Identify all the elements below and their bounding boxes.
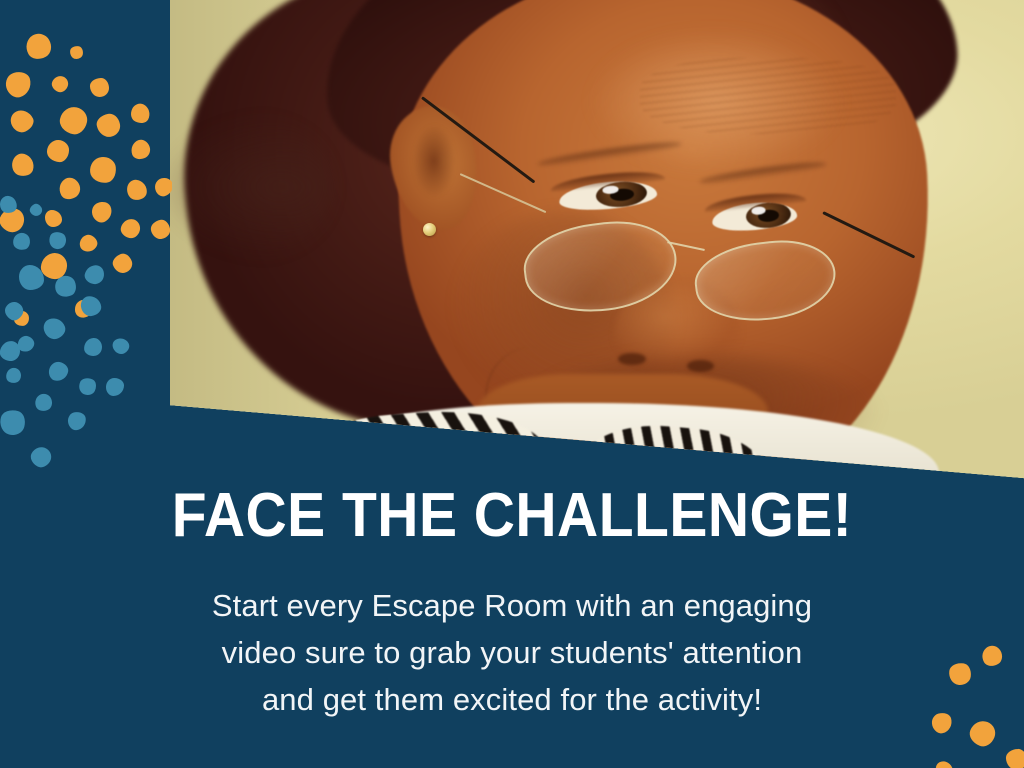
confetti-dot bbox=[76, 375, 98, 397]
confetti-dot bbox=[77, 232, 100, 255]
pearl-earring-icon bbox=[423, 223, 436, 236]
confetti-dot bbox=[45, 210, 62, 227]
confetti-dot bbox=[50, 74, 71, 95]
confetti-dot bbox=[5, 367, 23, 385]
slide-canvas: FACE THE CHALLENGE! Start every Escape R… bbox=[0, 0, 1024, 768]
confetti-dot bbox=[95, 112, 122, 139]
confetti-dot bbox=[27, 443, 54, 470]
ear-inner-shadow bbox=[413, 125, 456, 197]
confetti-dot bbox=[149, 218, 171, 240]
confetti-dot bbox=[83, 337, 102, 356]
text-block: FACE THE CHALLENGE! Start every Escape R… bbox=[0, 472, 1024, 723]
confetti-dot bbox=[41, 315, 67, 341]
confetti-dot bbox=[128, 137, 152, 161]
confetti-dot bbox=[0, 407, 28, 438]
body-copy-line: and get them excited for the activity! bbox=[150, 676, 874, 723]
confetti-dot bbox=[21, 29, 55, 63]
confetti-dot bbox=[7, 106, 36, 135]
confetti-dot bbox=[46, 229, 68, 251]
confetti-dot bbox=[83, 263, 106, 286]
confetti-dot bbox=[90, 78, 110, 98]
confetti-dot bbox=[67, 411, 87, 431]
nostril-left bbox=[618, 353, 645, 365]
forehead-wrinkles bbox=[640, 58, 896, 135]
confetti-dot bbox=[110, 251, 134, 275]
confetti-dot bbox=[69, 45, 83, 59]
confetti-dot bbox=[933, 758, 954, 768]
confetti-dot bbox=[11, 231, 32, 252]
confetti-dot bbox=[119, 217, 142, 240]
confetti-dot bbox=[57, 104, 89, 136]
confetti-dot bbox=[28, 202, 44, 218]
confetti-dot bbox=[128, 101, 153, 126]
confetti-dot bbox=[106, 378, 124, 396]
confetti-pattern-left bbox=[0, 0, 172, 480]
page-title: FACE THE CHALLENGE! bbox=[41, 472, 983, 548]
confetti-dot bbox=[89, 156, 118, 185]
portrait-photo-image bbox=[170, 0, 1024, 480]
confetti-dot bbox=[153, 176, 172, 198]
confetti-dot bbox=[47, 360, 69, 382]
confetti-dot bbox=[126, 179, 149, 202]
confetti-dot bbox=[1006, 749, 1024, 768]
body-copy-line: Start every Escape Room with an engaging bbox=[150, 582, 874, 629]
confetti-dot bbox=[3, 69, 34, 100]
confetti-dot bbox=[46, 139, 69, 162]
confetti-dot bbox=[32, 391, 54, 413]
eye-glint-right bbox=[752, 206, 766, 215]
confetti-dot bbox=[89, 199, 115, 225]
confetti-dot bbox=[55, 174, 84, 203]
body-copy-line: video sure to grab your students' attent… bbox=[150, 629, 874, 676]
confetti-dot bbox=[110, 335, 132, 357]
body-copy: Start every Escape Room with an engaging… bbox=[0, 548, 1024, 723]
confetti-dot bbox=[9, 151, 36, 178]
portrait-photo bbox=[170, 0, 1024, 480]
